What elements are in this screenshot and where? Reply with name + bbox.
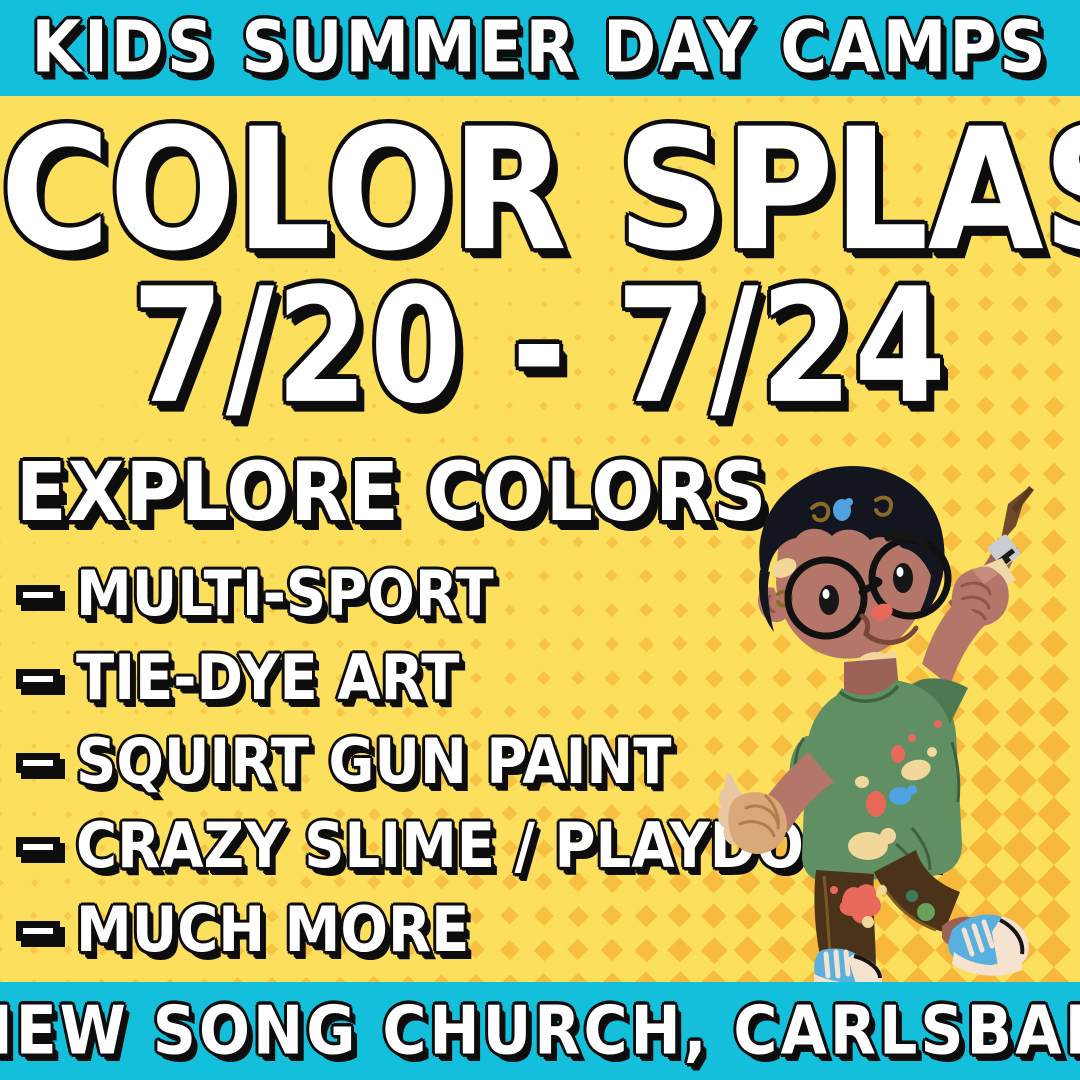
right-sneaker xyxy=(942,915,1029,976)
dash-bullet-icon xyxy=(16,837,60,857)
activity-label: MULTI-SPORT xyxy=(76,564,494,627)
camp-dates-text: 7/20 - 7/24 xyxy=(132,272,948,422)
dash-bullet-icon xyxy=(16,753,60,773)
dash-bullet-icon xyxy=(16,669,60,689)
bottom-banner-text: NEW SONG CHURCH, CARLSBAD xyxy=(0,992,1080,1070)
top-banner-text: KIDS SUMMER DAY CAMPS xyxy=(32,7,1049,90)
activity-label: MUCH MORE xyxy=(76,900,469,963)
headline: COLOR SPLASH xyxy=(0,122,1080,260)
dash-bullet-icon xyxy=(16,921,60,941)
boy-with-paintbrush-illustration xyxy=(716,452,1080,984)
camp-dates: 7/20 - 7/24 xyxy=(0,285,1080,410)
top-banner: KIDS SUMMER DAY CAMPS xyxy=(0,0,1080,96)
headline-text: COLOR SPLASH xyxy=(0,114,1080,269)
dash-bullet-icon xyxy=(16,585,60,605)
activity-label: TIE-DYE ART xyxy=(76,648,459,711)
poster-canvas: KIDS SUMMER DAY CAMPS COLOR SPLASH 7/20 … xyxy=(0,0,1080,1080)
activity-label: SQUIRT GUN PAINT xyxy=(76,732,672,795)
bottom-banner: NEW SONG CHURCH, CARLSBAD xyxy=(0,982,1080,1080)
